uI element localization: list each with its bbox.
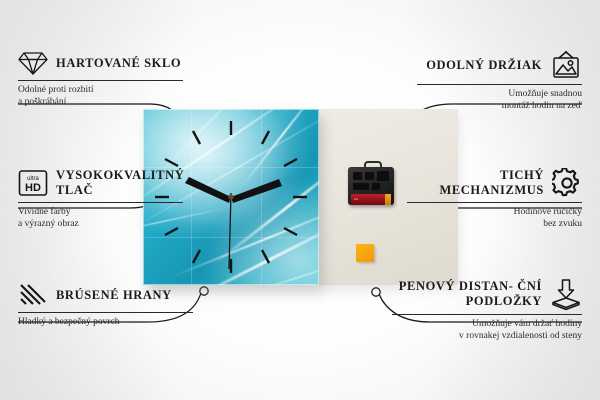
mechanism-slot [365, 172, 374, 180]
feature-durable-hanger: ODOLNÝ DRŽIAK Umožňuje snadnou montáž ho… [417, 50, 582, 112]
mechanism-slot [377, 171, 389, 181]
feature-divider [18, 202, 183, 203]
battery-positive-cap [385, 194, 391, 205]
feature-divider [417, 84, 582, 85]
feature-desc: Vivídne farby a výrazný obraz [18, 207, 183, 230]
feature-head: ODOLNÝ DRŽIAK [417, 50, 582, 80]
feature-desc: Umožňuje vám držať hodiny v rovnakej vzd… [392, 319, 582, 342]
feature-head: TICHÝ MECHANIZMUS [407, 168, 582, 198]
feature-divider [407, 202, 582, 203]
feature-divider [392, 314, 582, 315]
ultra-hd-main-label: HD [25, 182, 41, 194]
feature-title: VYSOKOKVALITNÝ TLAČ [56, 168, 184, 198]
hour-hand [185, 177, 231, 203]
feature-beveled-edges: BRÚSENÉ HRANY Hladký a bezpečný povrch [18, 282, 193, 329]
feature-title: PENOVÝ DISTAN- ČNÍ PODLOŽKY [392, 279, 542, 309]
feature-silent-mechanism: TICHÝ MECHANIZMUS Hodinové ručičky bez z… [407, 168, 582, 230]
feature-title: ODOLNÝ DRŽIAK [417, 58, 542, 73]
feature-title: BRÚSENÉ HRANY [56, 288, 172, 303]
ultra-hd-icon: ultra HD [18, 169, 48, 197]
feature-desc: Hodinové ručičky bez zvuku [407, 207, 582, 230]
feature-head: BRÚSENÉ HRANY [18, 282, 193, 308]
beveled-edges-icon [18, 282, 48, 308]
picture-hanger-icon [550, 50, 582, 80]
mechanism-body: AA [348, 167, 394, 205]
hands-hub [228, 194, 233, 199]
feature-divider [18, 312, 193, 313]
clock-mechanism: AA [348, 161, 394, 205]
mechanism-slot [353, 183, 369, 190]
foam-spacer-pad [356, 244, 374, 262]
battery: AA [351, 194, 391, 205]
feature-divider [18, 80, 183, 81]
feature-hardened-glass: HARTOVANÉ SKLO Odolné proti rozbití a po… [18, 50, 183, 108]
gear-icon [552, 168, 582, 198]
feature-title: HARTOVANÉ SKLO [56, 56, 181, 71]
feature-head: PENOVÝ DISTAN- ČNÍ PODLOŽKY [392, 278, 582, 310]
foam-spacer-icon [550, 278, 582, 310]
feature-desc: Hladký a bezpečný povrch [18, 317, 193, 329]
mechanism-slot [372, 183, 380, 190]
mechanism-slot [353, 172, 362, 180]
feature-head: HARTOVANÉ SKLO [18, 50, 183, 76]
feature-desc: Odolné proti rozbití a poškrábání [18, 85, 183, 108]
battery-label: AA [354, 197, 358, 201]
feature-high-quality-print: ultra HD VYSOKOKVALITNÝ TLAČ Vivídne far… [18, 168, 183, 230]
diamond-icon [18, 50, 48, 76]
second-hand [229, 193, 231, 269]
minute-hand [231, 179, 282, 203]
feature-foam-spacers: PENOVÝ DISTAN- ČNÍ PODLOŽKY Umožňuje vám… [392, 278, 582, 342]
infographic-page: AA [0, 0, 600, 400]
feature-head: ultra HD VYSOKOKVALITNÝ TLAČ [18, 168, 183, 198]
feature-desc: Umožňuje snadnou montáž hodin na zeď [417, 89, 582, 112]
feature-title: TICHÝ MECHANIZMUS [407, 168, 544, 198]
